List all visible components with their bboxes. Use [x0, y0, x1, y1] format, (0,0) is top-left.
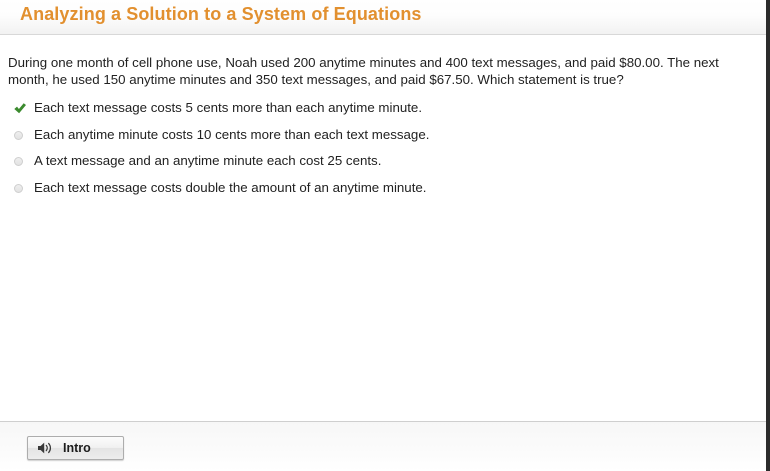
radio-icon[interactable] [13, 129, 27, 143]
page-title: Analyzing a Solution to a System of Equa… [20, 4, 422, 25]
answer-option[interactable]: Each text message costs double the amoun… [0, 179, 760, 206]
intro-audio-button[interactable]: Intro [27, 436, 124, 460]
answer-option-label: Each anytime minute costs 10 cents more … [34, 126, 429, 143]
answer-option[interactable]: Each text message costs 5 cents more tha… [0, 99, 760, 126]
radio-icon[interactable] [13, 155, 27, 169]
answer-options-list: Each text message costs 5 cents more tha… [0, 99, 760, 205]
page-header: Analyzing a Solution to a System of Equa… [0, 0, 766, 35]
radio-icon[interactable] [13, 182, 27, 196]
check-icon[interactable] [13, 102, 27, 116]
question-text: During one month of cell phone use, Noah… [8, 54, 756, 88]
answer-option-label: A text message and an anytime minute eac… [34, 152, 381, 169]
answer-option[interactable]: Each anytime minute costs 10 cents more … [0, 126, 760, 153]
intro-audio-label: Intro [63, 441, 91, 455]
speaker-icon [37, 441, 54, 455]
lesson-screen: Analyzing a Solution to a System of Equa… [0, 0, 770, 471]
answer-option-label: Each text message costs 5 cents more tha… [34, 99, 422, 116]
answer-option-label: Each text message costs double the amoun… [34, 179, 426, 196]
answer-option[interactable]: A text message and an anytime minute eac… [0, 152, 760, 179]
footer-bar: Intro [0, 421, 766, 471]
